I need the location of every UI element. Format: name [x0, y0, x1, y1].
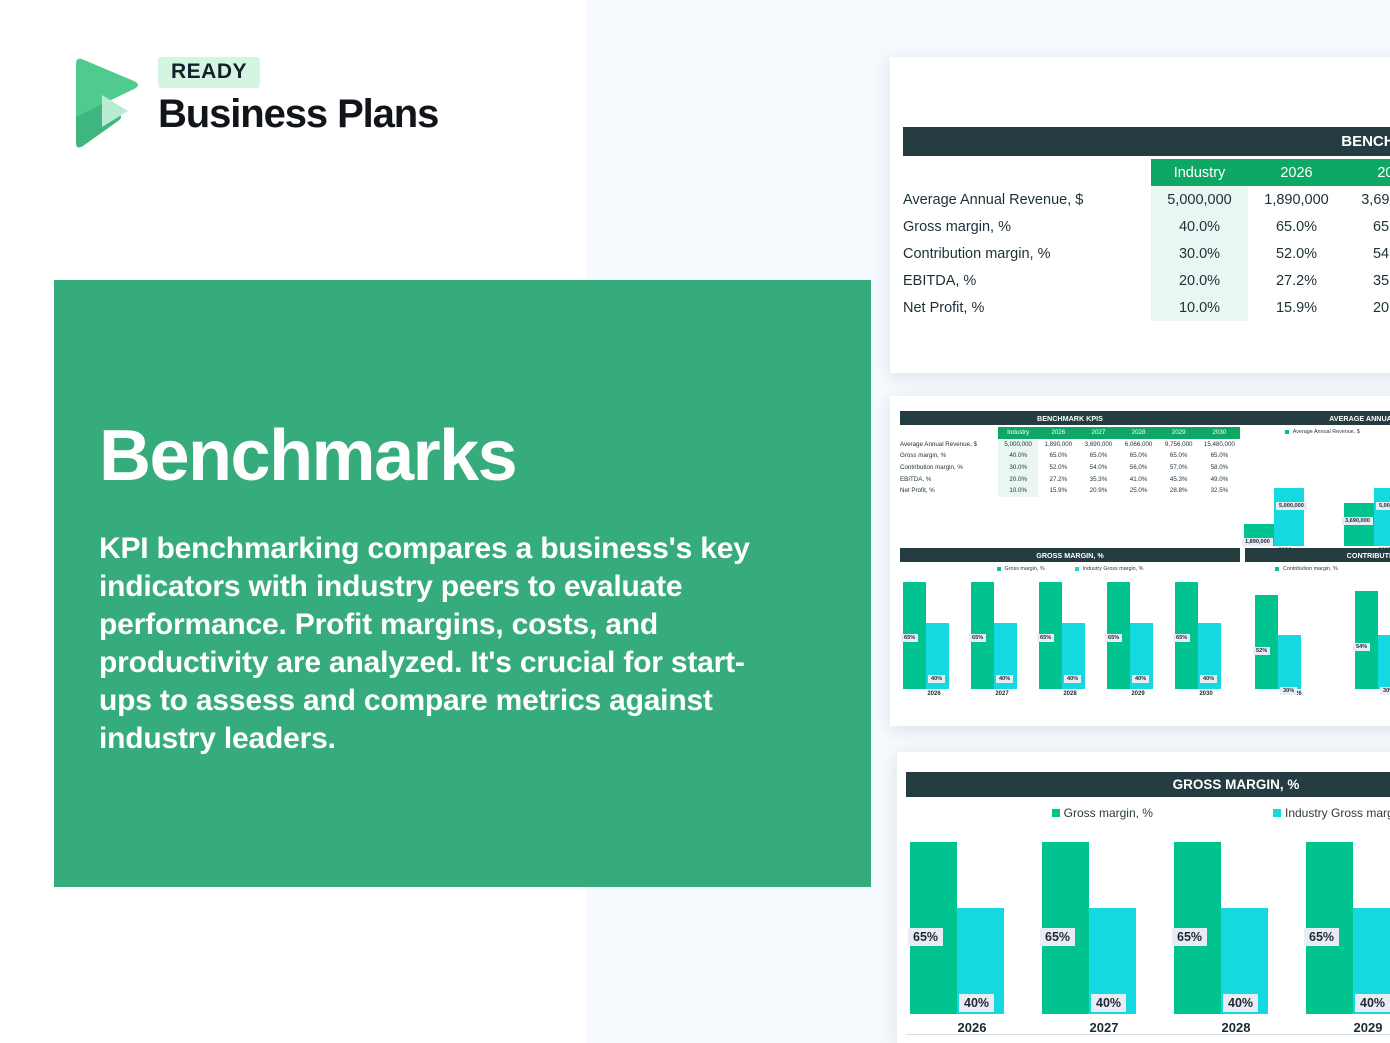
- legend-swatch-icon: [997, 567, 1001, 571]
- page-title: Benchmarks: [99, 420, 516, 492]
- table-cell: 65.0%: [1345, 213, 1390, 240]
- bar: 40%: [1353, 908, 1390, 1014]
- bar: 30%: [1278, 635, 1301, 689]
- bar-value-label: 52%: [1253, 647, 1270, 655]
- bar-value-label: 65%: [1105, 634, 1122, 642]
- legend-swatch-icon: [1075, 567, 1079, 571]
- legend-swatch-icon: [1273, 809, 1281, 817]
- bar-group: 65%40%: [1042, 834, 1166, 1014]
- table-row: Net Profit, %10.0%15.9%20.9%25.0%28.8%32…: [900, 485, 1240, 497]
- bar-value-label: 3,690,000: [1342, 517, 1373, 525]
- gross-margin-mini-legend: Gross margin, % Industry Gross margin, %: [900, 566, 1240, 572]
- table-cell: 52.0%: [1248, 240, 1345, 267]
- table-row: Net Profit, %10.0%15.9%20.9%25.0%28.8%32…: [903, 294, 1390, 321]
- bar: 40%: [957, 908, 1004, 1014]
- bar-value-label: 30%: [1280, 687, 1297, 695]
- gross-margin-chart-title: GROSS MARGIN, %: [906, 772, 1390, 797]
- table-row: Gross margin, %40.0%65.0%65.0%65.0%65.0%…: [900, 450, 1240, 462]
- benchmark-kpis-card: BENCHMARK KPIS Industry20262027202820292…: [890, 57, 1390, 373]
- brand-name: Business Plans: [158, 92, 438, 137]
- x-axis-label: 2026: [903, 691, 965, 697]
- table-cell: 27.2%: [1248, 267, 1345, 294]
- x-axis-label: 2030: [1175, 691, 1237, 697]
- table-cell: 41.0%: [1119, 473, 1159, 485]
- table-column-header: 2030: [1199, 427, 1240, 439]
- mini-table-title: BENCHMARK KPIS: [900, 411, 1240, 425]
- table-cell: 30.0%: [998, 462, 1038, 474]
- table-row-label: Gross margin, %: [900, 450, 998, 462]
- table-row-label: Contribution margin, %: [900, 462, 998, 474]
- bar-value-label: 40%: [928, 675, 945, 683]
- table-cell: 54.0%: [1078, 462, 1118, 474]
- bar-group: 3,690,0005,000,000: [1344, 441, 1390, 546]
- gross-margin-chart-card: GROSS MARGIN, % Gross margin, % Industry…: [897, 752, 1390, 1043]
- table-cell: 65.0%: [1199, 450, 1240, 462]
- bar-group: 65%40%: [1039, 577, 1101, 689]
- table-column-header: 2027: [1345, 159, 1390, 186]
- benchmark-kpis-table-wrap: BENCHMARK KPIS Industry20262027202820292…: [903, 127, 1390, 321]
- table-row: EBITDA, %20.0%27.2%35.3%41.0%45.3%49.0%: [903, 267, 1390, 294]
- table-cell: 35.3%: [1078, 473, 1118, 485]
- table-row-label: Contribution margin, %: [903, 240, 1151, 267]
- bar: 40%: [1221, 908, 1268, 1014]
- bar-group: 52%30%: [1255, 577, 1335, 689]
- bar-value-label: 65%: [1037, 634, 1054, 642]
- bar: 65%: [1039, 582, 1062, 689]
- x-axis-label: 2026: [910, 1020, 1034, 1035]
- gross-margin-mini-plot: 65%40%65%40%65%40%65%40%65%40%: [900, 577, 1240, 689]
- legend-label: Industry Gross margin, %: [1285, 806, 1390, 820]
- table-cell: 27.2%: [1038, 473, 1078, 485]
- table-cell: 52.0%: [1038, 462, 1078, 474]
- table-row-label: Net Profit, %: [900, 485, 998, 497]
- ready-badge: READY: [158, 57, 260, 88]
- table-cell: 20.0%: [998, 473, 1038, 485]
- legend-label: Average Annual Revenue, $: [1293, 429, 1360, 435]
- table-cell: 1,890,000: [1038, 439, 1078, 451]
- table-cell: 15.9%: [1038, 485, 1078, 497]
- bar: 1,890,000: [1244, 524, 1274, 546]
- bar: 40%: [926, 623, 949, 689]
- bar: 5,000,000: [1374, 488, 1390, 546]
- bar: 30%: [1378, 635, 1390, 689]
- bar: 52%: [1255, 595, 1278, 689]
- table-cell: 49.0%: [1199, 473, 1240, 485]
- legend-item: Gross margin, %: [997, 566, 1045, 572]
- bar-group: 65%40%: [910, 834, 1034, 1014]
- table-title: BENCHMARK KPIS: [903, 127, 1390, 156]
- contribution-margin-xaxis: 202620272028: [1245, 691, 1390, 697]
- bar: 65%: [1306, 842, 1353, 1014]
- table-cell: 65.0%: [1159, 450, 1199, 462]
- table-column-header: 2028: [1119, 427, 1159, 439]
- x-axis-label: 2029: [1306, 1020, 1390, 1035]
- table-row: Average Annual Revenue, $5,000,0001,890,…: [900, 439, 1240, 451]
- bar: 40%: [994, 623, 1017, 689]
- table-cell: 32.5%: [1199, 485, 1240, 497]
- revenue-chart: AVERAGE ANNUAL REVENUE, $ Average Annual…: [1235, 411, 1390, 554]
- bar: 65%: [1107, 582, 1130, 689]
- x-axis-line: [906, 1034, 1390, 1035]
- bar: 40%: [1198, 623, 1221, 689]
- table-cell: 40.0%: [998, 450, 1038, 462]
- bar-group: 65%40%: [1107, 577, 1169, 689]
- x-axis-label: 2028: [1039, 691, 1101, 697]
- table-corner-cell: [903, 159, 1151, 186]
- dashboard-overview-card: BENCHMARK KPIS Industry20262027202820292…: [890, 396, 1390, 726]
- table-row-label: EBITDA, %: [900, 473, 998, 485]
- table-cell: 65.0%: [1038, 450, 1078, 462]
- bar: 5,000,000: [1274, 488, 1304, 546]
- x-axis-label: 2028: [1174, 1020, 1298, 1035]
- bar-value-label: 65%: [1304, 928, 1339, 946]
- gross-margin-mini-chart: GROSS MARGIN, % Gross margin, % Industry…: [900, 548, 1240, 697]
- table-column-header: Industry: [998, 427, 1038, 439]
- bar-value-label: 1,890,000: [1242, 538, 1273, 546]
- bar-value-label: 65%: [901, 634, 918, 642]
- bar: 40%: [1062, 623, 1085, 689]
- revenue-chart-title: AVERAGE ANNUAL REVENUE, $: [1235, 411, 1390, 425]
- legend-swatch-icon: [1285, 430, 1289, 434]
- table-cell: 65.0%: [1078, 450, 1118, 462]
- gross-margin-chart: GROSS MARGIN, % Gross margin, % Industry…: [906, 772, 1390, 1035]
- table-cell: 65.0%: [1119, 450, 1159, 462]
- legend-label: Gross margin, %: [1005, 566, 1045, 572]
- bar: 54%: [1355, 591, 1378, 689]
- legend-swatch-icon: [1052, 809, 1060, 817]
- table-cell: 56.0%: [1119, 462, 1159, 474]
- revenue-chart-plot: 1,890,0005,000,0003,690,0005,000,0006,06…: [1235, 441, 1390, 546]
- bar: 65%: [971, 582, 994, 689]
- bar-value-label: 40%: [1223, 994, 1258, 1012]
- table-cell: 3,690,000: [1078, 439, 1118, 451]
- bar: 65%: [1174, 842, 1221, 1014]
- bar-group: 65%40%: [903, 577, 965, 689]
- table-cell: 6,066,000: [1119, 439, 1159, 451]
- table-cell: 58.0%: [1199, 462, 1240, 474]
- bar-value-label: 40%: [959, 994, 994, 1012]
- bar-value-label: 5,000,000: [1376, 502, 1390, 510]
- bar-value-label: 54%: [1353, 643, 1370, 651]
- hero-description: KPI benchmarking compares a business's k…: [99, 530, 767, 758]
- brand-logo: READY Business Plans: [62, 55, 462, 155]
- legend-label: Industry Gross margin, %: [1083, 566, 1144, 572]
- legend-label: Contribution margin, %: [1283, 566, 1338, 572]
- table-cell: 54.0%: [1345, 240, 1390, 267]
- bar-value-label: 30%: [1380, 687, 1390, 695]
- gross-margin-chart-legend: Gross margin, % Industry Gross margin, %: [906, 806, 1390, 820]
- table-row-label: Gross margin, %: [903, 213, 1151, 240]
- table-column-header: Industry: [1151, 159, 1248, 186]
- table-corner-cell: [900, 427, 998, 439]
- bar-group: 1,890,0005,000,000: [1244, 441, 1326, 546]
- table-cell: 5,000,000: [1151, 186, 1248, 213]
- table-column-header: 2026: [1248, 159, 1345, 186]
- table-cell: 9,756,000: [1159, 439, 1199, 451]
- table-cell: 25.0%: [1119, 485, 1159, 497]
- gross-margin-chart-plot: 65%40%65%40%65%40%65%40%65%40%: [906, 834, 1390, 1014]
- table-column-header: 2027: [1078, 427, 1118, 439]
- bar-group: 54%30%: [1355, 577, 1390, 689]
- bar-value-label: 65%: [1040, 928, 1075, 946]
- legend-item: Industry Gross margin, %: [1273, 806, 1390, 820]
- table-cell: 20.9%: [1345, 294, 1390, 321]
- table-cell: 35.3%: [1345, 267, 1390, 294]
- table-cell: 1,890,000: [1248, 186, 1345, 213]
- gross-margin-chart-xaxis: 20262027202820292030: [906, 1020, 1390, 1035]
- legend-item: Average Annual Revenue, $: [1285, 429, 1360, 435]
- table-row: Gross margin, %40.0%65.0%65.0%65.0%65.0%…: [903, 213, 1390, 240]
- contribution-margin-legend: Contribution margin, %: [1245, 566, 1390, 572]
- bar-group: 65%40%: [1175, 577, 1237, 689]
- bar-value-label: 65%: [969, 634, 986, 642]
- legend-label: Gross margin, %: [1064, 806, 1153, 820]
- bar: 40%: [1130, 623, 1153, 689]
- table-header-row: Industry20262027202820292030: [903, 159, 1390, 186]
- table-row-label: Average Annual Revenue, $: [903, 186, 1151, 213]
- x-axis-label: 2027: [971, 691, 1033, 697]
- legend-item: Gross margin, %: [1052, 806, 1153, 820]
- bar: 65%: [903, 582, 926, 689]
- table-cell: 15.9%: [1248, 294, 1345, 321]
- mini-benchmark-kpis-table: Industry20262027202820292030 Average Ann…: [900, 427, 1240, 497]
- table-row: Contribution margin, %30.0%52.0%54.0%56.…: [900, 462, 1240, 474]
- table-column-header: 2026: [1038, 427, 1078, 439]
- table-cell: 20.0%: [1151, 267, 1248, 294]
- contribution-margin-title: CONTRIBUTION MARGIN, %: [1245, 548, 1390, 562]
- mini-benchmark-kpis-table-wrap: BENCHMARK KPIS Industry20262027202820292…: [900, 411, 1240, 497]
- bar-value-label: 40%: [1091, 994, 1126, 1012]
- table-row: EBITDA, %20.0%27.2%35.3%41.0%45.3%49.0%: [900, 473, 1240, 485]
- revenue-chart-legend: Average Annual Revenue, $ Industry Avera…: [1235, 429, 1390, 435]
- table-cell: 10.0%: [998, 485, 1038, 497]
- bar-value-label: 5,000,000: [1276, 502, 1307, 510]
- table-column-header: 2029: [1159, 427, 1199, 439]
- table-cell: 3,690,000: [1345, 186, 1390, 213]
- bar-value-label: 40%: [996, 675, 1013, 683]
- table-row: Average Annual Revenue, $5,000,0001,890,…: [903, 186, 1390, 213]
- bar: 3,690,000: [1344, 503, 1374, 546]
- table-cell: 57.0%: [1159, 462, 1199, 474]
- table-row-label: Net Profit, %: [903, 294, 1151, 321]
- play-triangle-logo-icon: [62, 55, 142, 150]
- bar: 65%: [910, 842, 957, 1014]
- bar: 65%: [1175, 582, 1198, 689]
- brand-text: READY Business Plans: [158, 57, 438, 137]
- bar-group: 65%40%: [971, 577, 1033, 689]
- table-row-label: Average Annual Revenue, $: [900, 439, 998, 451]
- bar-value-label: 40%: [1064, 675, 1081, 683]
- table-row: Contribution margin, %30.0%52.0%54.0%56.…: [903, 240, 1390, 267]
- mini-table-header-row: Industry20262027202820292030: [900, 427, 1240, 439]
- bar-value-label: 65%: [1172, 928, 1207, 946]
- legend-swatch-icon: [1275, 567, 1279, 571]
- table-cell: 10.0%: [1151, 294, 1248, 321]
- x-axis-label: 2027: [1042, 1020, 1166, 1035]
- table-cell: 5,000,000: [998, 439, 1038, 451]
- table-cell: 20.9%: [1078, 485, 1118, 497]
- contribution-margin-plot: 52%30%54%30%56%30%: [1245, 577, 1390, 689]
- legend-item: Contribution margin, %: [1275, 566, 1338, 572]
- contribution-margin-mini-chart: CONTRIBUTION MARGIN, % Contribution marg…: [1245, 548, 1390, 697]
- bar-value-label: 65%: [1173, 634, 1190, 642]
- table-cell: 28.8%: [1159, 485, 1199, 497]
- table-cell: 30.0%: [1151, 240, 1248, 267]
- hero-panel: Benchmarks KPI benchmarking compares a b…: [54, 280, 871, 887]
- gross-margin-mini-title: GROSS MARGIN, %: [900, 548, 1240, 562]
- table-cell: 45.3%: [1159, 473, 1199, 485]
- table-cell: 15,480,000: [1199, 439, 1240, 451]
- bar-value-label: 40%: [1355, 994, 1390, 1012]
- bar-value-label: 40%: [1132, 675, 1149, 683]
- bar-group: 65%40%: [1306, 834, 1390, 1014]
- table-cell: 40.0%: [1151, 213, 1248, 240]
- gross-margin-mini-xaxis: 20262027202820292030: [900, 691, 1240, 697]
- bar-value-label: 40%: [1200, 675, 1217, 683]
- bar-group: 65%40%: [1174, 834, 1298, 1014]
- table-row-label: EBITDA, %: [903, 267, 1151, 294]
- benchmark-kpis-table: Industry20262027202820292030 Average Ann…: [903, 159, 1390, 321]
- table-cell: 65.0%: [1248, 213, 1345, 240]
- bar: 65%: [1042, 842, 1089, 1014]
- x-axis-label: 2029: [1107, 691, 1169, 697]
- bar-value-label: 65%: [908, 928, 943, 946]
- bar: 40%: [1089, 908, 1136, 1014]
- legend-item: Industry Gross margin, %: [1075, 566, 1144, 572]
